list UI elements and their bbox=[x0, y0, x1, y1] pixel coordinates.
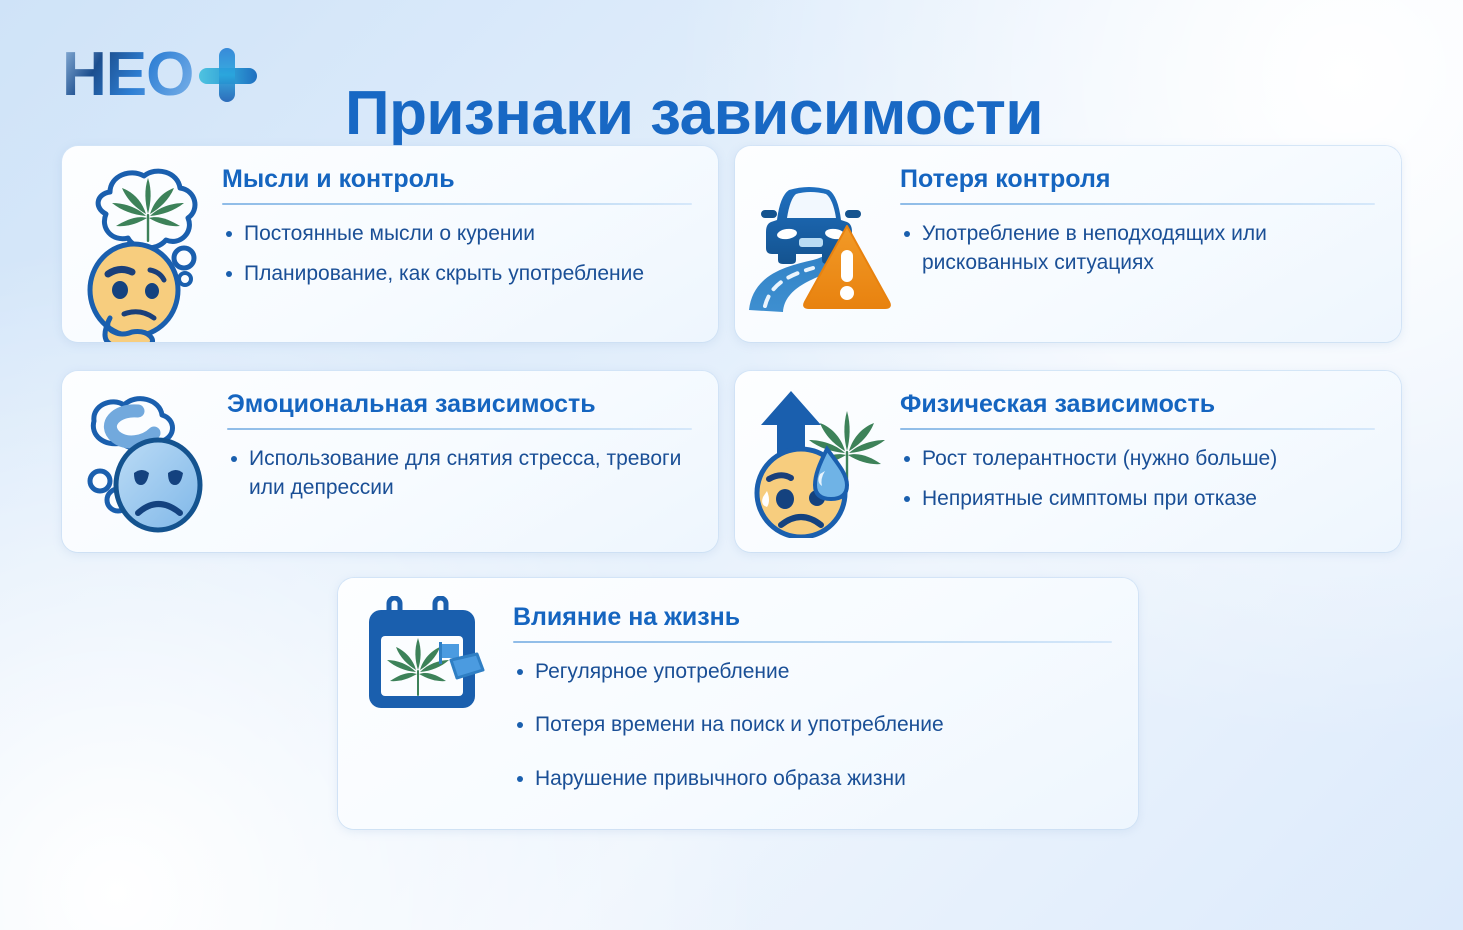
list-item: Неприятные симптомы при отказе bbox=[900, 484, 1375, 514]
page-title: Признаки зависимости bbox=[345, 78, 1043, 149]
card-body: Влияние на жизнь Регулярное употребление… bbox=[513, 578, 1138, 794]
card-heading: Потеря контроля bbox=[900, 166, 1375, 194]
heading-divider bbox=[222, 203, 692, 205]
card-heading: Эмоциональная зависимость bbox=[227, 391, 692, 419]
card-heading: Физическая зависимость bbox=[900, 391, 1375, 419]
list-item: Регулярное употребление bbox=[513, 657, 1112, 687]
card-body: Потеря контроля Употребление в неподходя… bbox=[900, 146, 1401, 278]
bullet-list: Регулярное употребление Потеря времени н… bbox=[513, 657, 1112, 794]
list-item: Употребление в неподходящих или рискован… bbox=[900, 219, 1375, 279]
up-arrow-cannabis-leaf-sweating-face-icon bbox=[735, 371, 900, 538]
card-body: Эмоциональная зависимость Использование … bbox=[227, 371, 718, 503]
heading-divider bbox=[513, 641, 1112, 643]
heading-divider bbox=[900, 203, 1375, 205]
list-item: Постоянные мысли о курении bbox=[222, 219, 692, 249]
heading-divider bbox=[227, 428, 692, 430]
page-header: НЕО bbox=[0, 0, 1463, 140]
card-body: Физическая зависимость Рост толерантност… bbox=[900, 371, 1401, 514]
brand-logo: НЕО bbox=[62, 44, 259, 106]
card-heading: Влияние на жизнь bbox=[513, 604, 1112, 632]
bullet-list: Употребление в неподходящих или рискован… bbox=[900, 219, 1375, 279]
plus-icon bbox=[197, 46, 259, 104]
list-item: Планирование, как скрыть употребление bbox=[222, 259, 692, 289]
calendar-with-cannabis-leaf-icon bbox=[338, 578, 513, 716]
infographic-page: НЕО bbox=[0, 0, 1463, 930]
bullet-list: Рост толерантности (нужно больше) Неприя… bbox=[900, 444, 1375, 515]
bullet-list: Использование для снятия стресса, тревог… bbox=[227, 444, 692, 504]
logo-wordmark: НЕО bbox=[62, 44, 193, 106]
list-item: Нарушение привычного образа жизни bbox=[513, 764, 1112, 794]
car-on-winding-road-with-warning-triangle-icon bbox=[735, 146, 900, 322]
card-thoughts-and-control: Мысли и контроль Постоянные мысли о куре… bbox=[62, 146, 718, 342]
card-loss-of-control: Потеря контроля Употребление в неподходя… bbox=[735, 146, 1401, 342]
sad-blue-face-with-thought-bubble-icon bbox=[62, 371, 227, 535]
card-heading: Мысли и контроль bbox=[222, 166, 692, 194]
card-impact-on-life: Влияние на жизнь Регулярное употребление… bbox=[338, 578, 1138, 829]
list-item: Потеря времени на поиск и употребление bbox=[513, 710, 1112, 740]
card-physical-dependence: Физическая зависимость Рост толерантност… bbox=[735, 371, 1401, 552]
card-emotional-dependence: Эмоциональная зависимость Использование … bbox=[62, 371, 718, 552]
heading-divider bbox=[900, 428, 1375, 430]
thinking-face-with-cannabis-thought-bubble-icon bbox=[62, 146, 222, 342]
card-body: Мысли и контроль Постоянные мысли о куре… bbox=[222, 146, 718, 289]
list-item: Использование для снятия стресса, тревог… bbox=[227, 444, 692, 504]
list-item: Рост толерантности (нужно больше) bbox=[900, 444, 1375, 474]
bullet-list: Постоянные мысли о курении Планирование,… bbox=[222, 219, 692, 290]
